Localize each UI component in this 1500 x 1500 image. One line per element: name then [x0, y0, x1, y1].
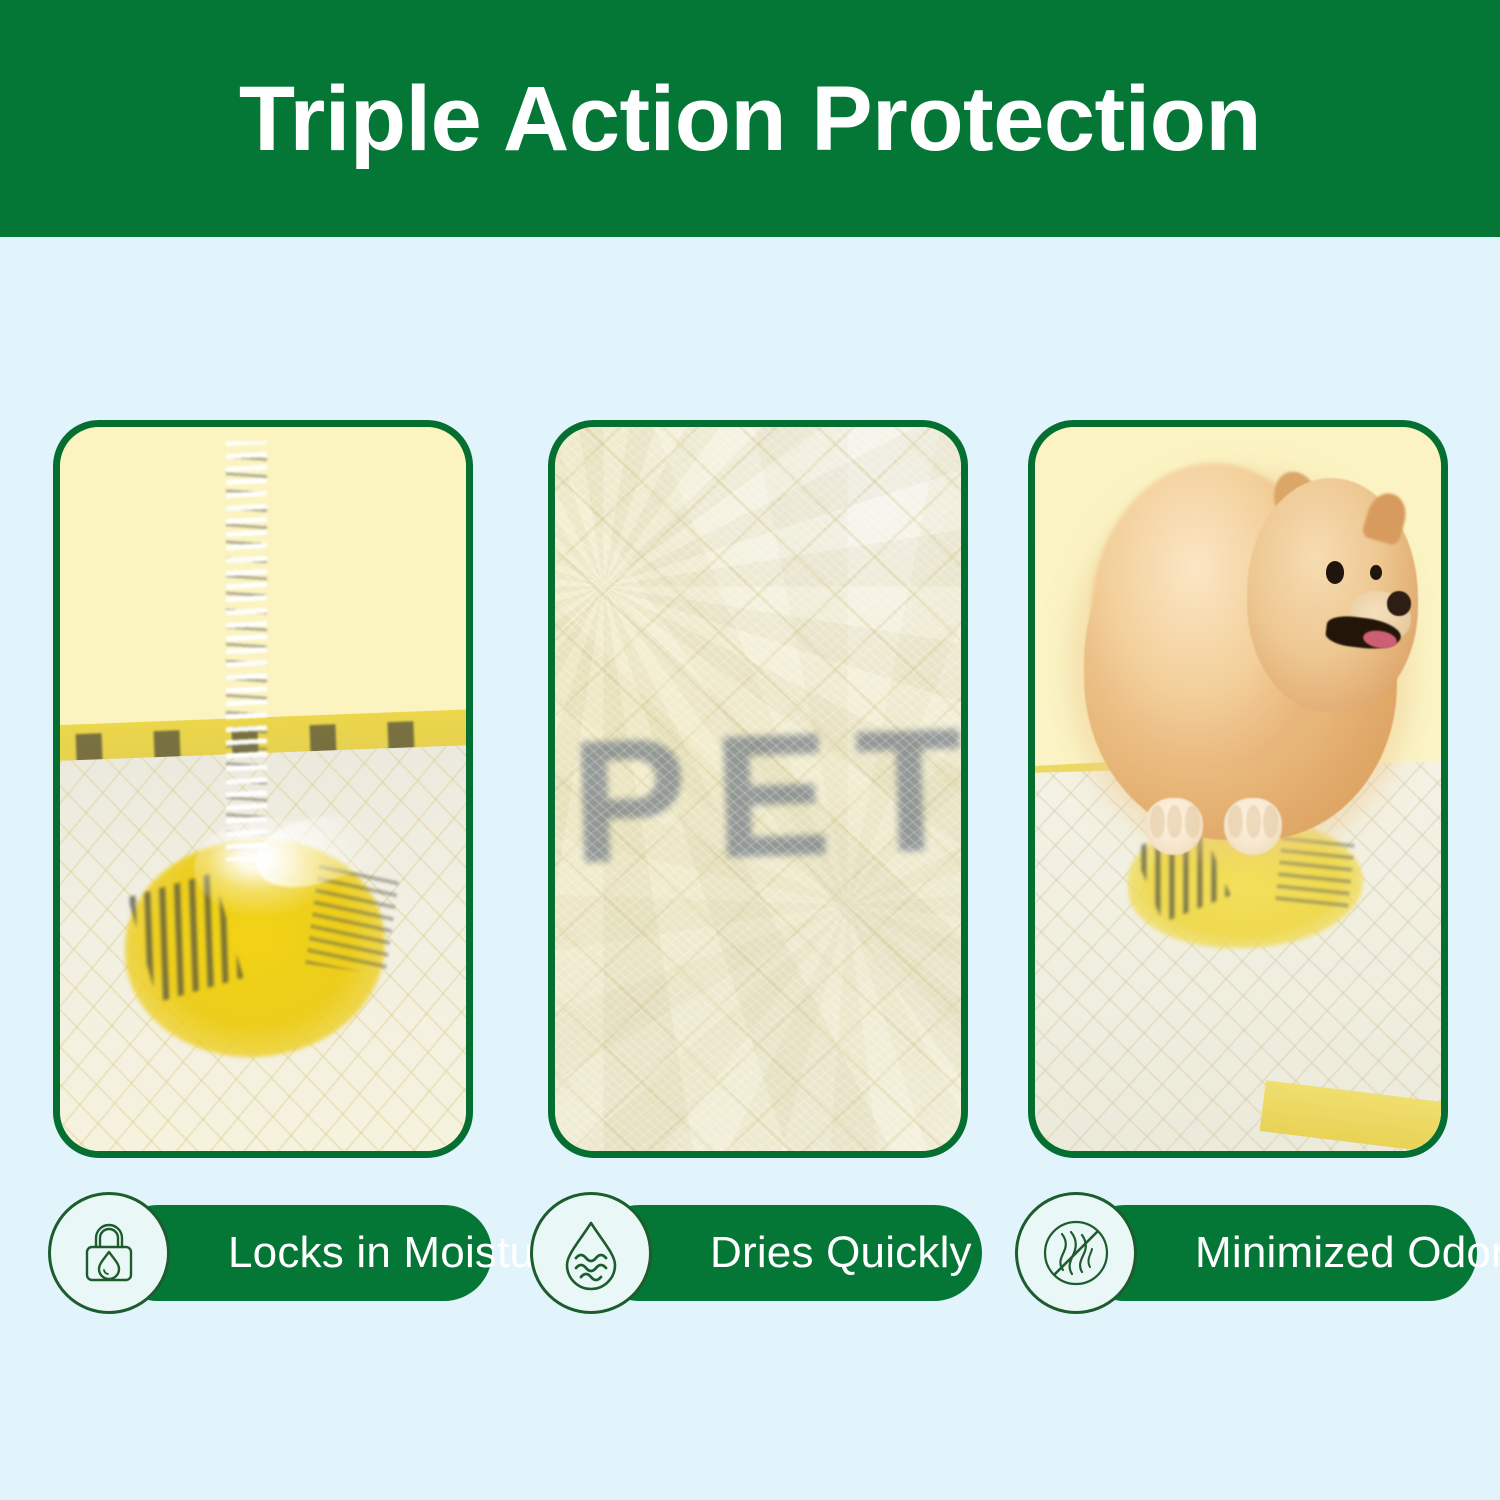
- photo-panel-row: PET: [0, 420, 1500, 1160]
- badge-label: Dries Quickly: [710, 1231, 972, 1275]
- badge-pill: Minimized Odor: [1077, 1205, 1477, 1301]
- dog-nose: [1387, 591, 1411, 615]
- panel-water-absorption: [53, 420, 473, 1158]
- badge-minimized-odor[interactable]: Minimized Odor: [1015, 1192, 1477, 1314]
- panel-1-image: [60, 427, 466, 1151]
- header-band: Triple Action Protection: [0, 0, 1500, 237]
- panel-dog-on-pad: [1028, 420, 1448, 1158]
- panel-2-image: PET: [555, 427, 961, 1151]
- panel-3-image: [1035, 427, 1441, 1151]
- feature-badge-row: Locks in Moisture Dries Quickly: [0, 1192, 1500, 1322]
- dog-paw-right: [1224, 798, 1282, 854]
- dog-paw-left: [1145, 798, 1203, 854]
- lock-droplet-icon: [48, 1192, 170, 1314]
- dog-eye-left: [1326, 561, 1344, 584]
- water-droplet-waves-icon: [530, 1192, 652, 1314]
- water-stream: [226, 441, 267, 861]
- pad-print-right: [1275, 829, 1355, 909]
- badge-label: Minimized Odor: [1195, 1231, 1500, 1275]
- badge-dries-quickly[interactable]: Dries Quickly: [530, 1192, 982, 1314]
- panel-fabric-closeup: PET: [548, 420, 968, 1158]
- pomeranian-dog: [1084, 463, 1425, 839]
- fabric-fibers: [555, 427, 961, 1151]
- page-title: Triple Action Protection: [239, 73, 1261, 165]
- badge-label: Locks in Moisture: [228, 1231, 574, 1275]
- infographic-page: Triple Action Protection P: [0, 0, 1500, 1500]
- badge-locks-in-moisture[interactable]: Locks in Moisture: [48, 1192, 492, 1314]
- dog-eye-right: [1370, 565, 1382, 580]
- no-odor-icon: [1015, 1192, 1137, 1314]
